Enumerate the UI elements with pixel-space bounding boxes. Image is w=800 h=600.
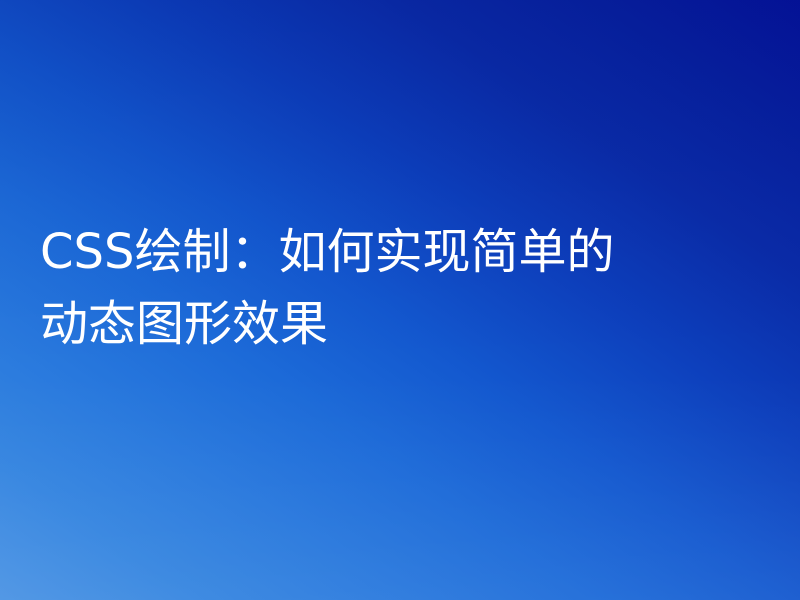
banner-card: CSS绘制：如何实现简单的 动态图形效果 xyxy=(0,0,800,600)
banner-title-line-2: 动态图形效果 xyxy=(40,288,776,360)
banner-title-line-1: CSS绘制：如何实现简单的 xyxy=(40,216,776,288)
banner-title-block: CSS绘制：如何实现简单的 动态图形效果 xyxy=(40,216,776,360)
